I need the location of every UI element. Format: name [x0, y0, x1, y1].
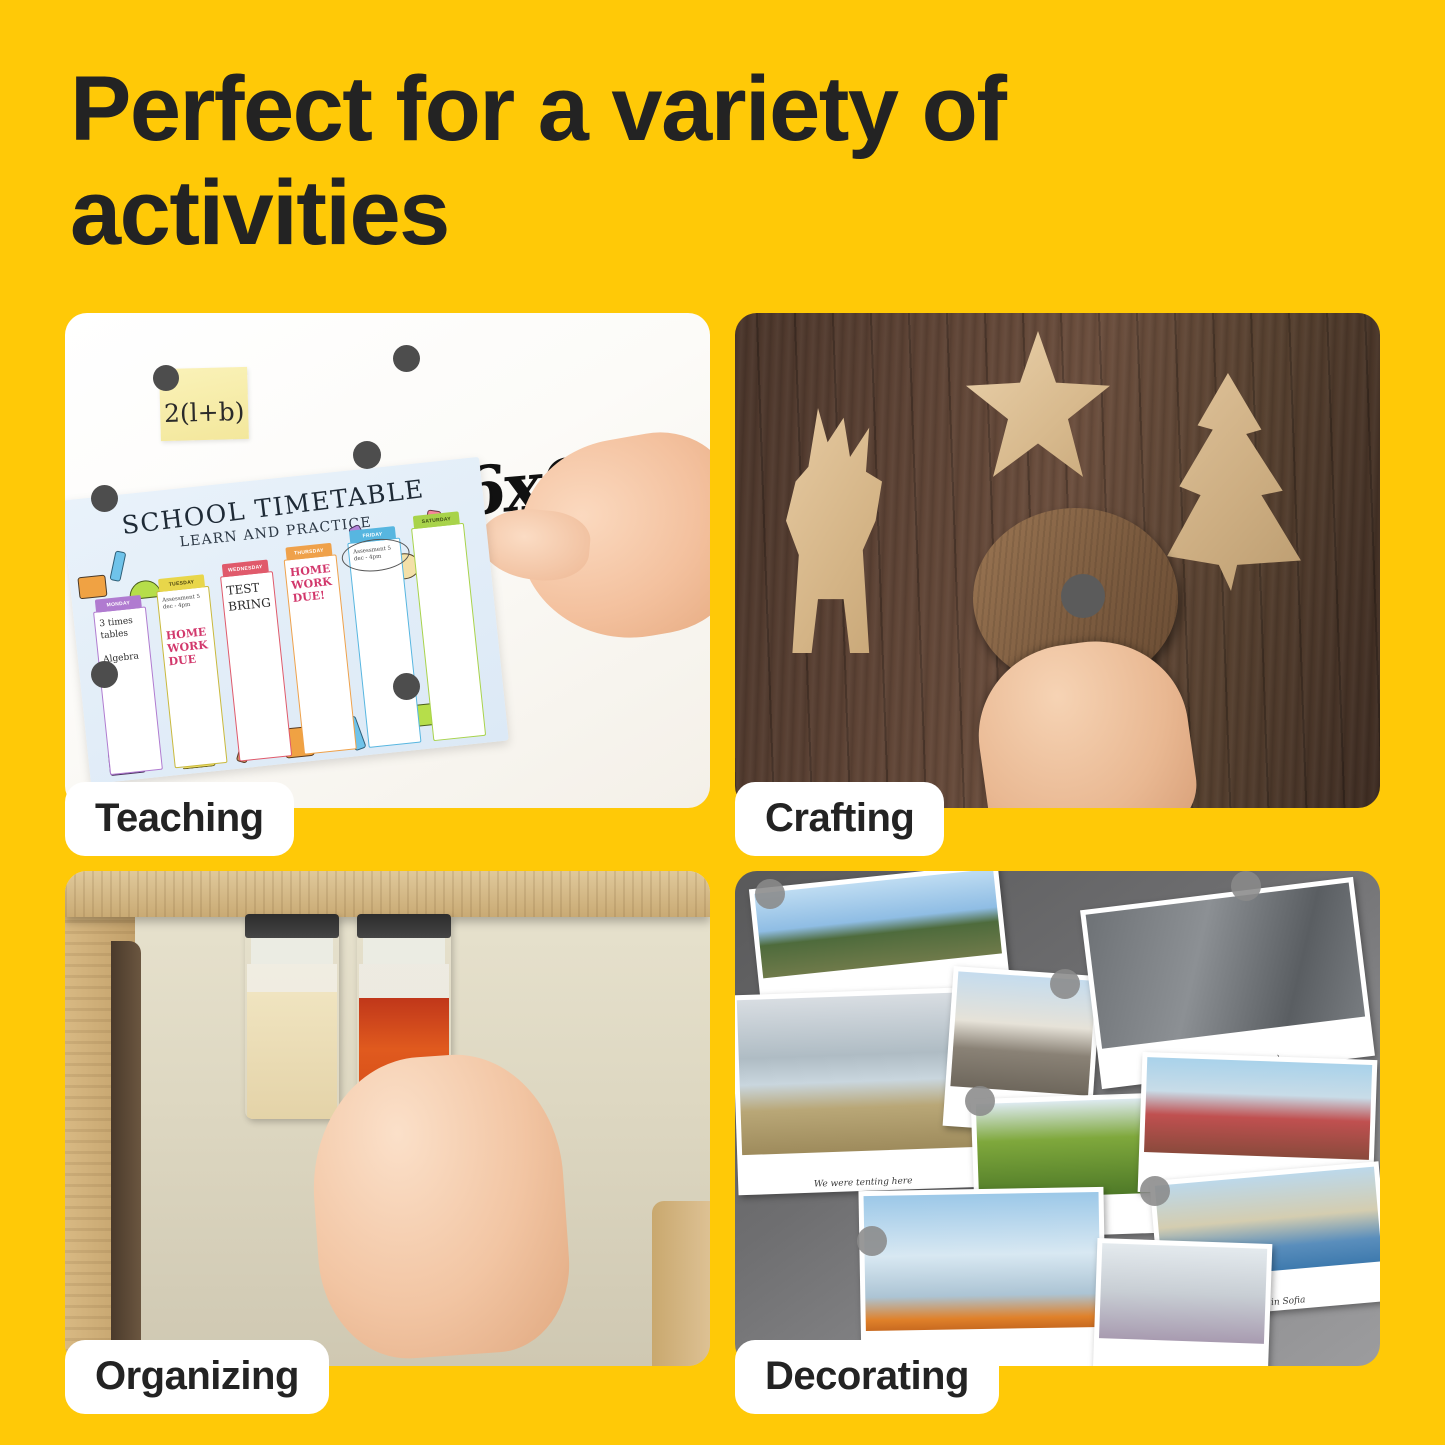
- timetable-column: THURSDAY HOME WORK DUE!: [284, 554, 357, 754]
- magnet-dot: [857, 1226, 887, 1256]
- panel-label-organizing: Organizing: [65, 1340, 329, 1414]
- panel-crafting-image: [735, 313, 1380, 808]
- timetable-day-tab: TUESDAY: [158, 574, 205, 592]
- cabinet-shadow-gap: [111, 941, 141, 1366]
- timetable-column: WEDNESDAY TEST BRING: [220, 571, 292, 762]
- timetable-note: HOME WORK DUE: [165, 625, 213, 669]
- photo-image-bungee-jump: [1086, 882, 1365, 1048]
- photo-image-mountain-biking: [754, 871, 1002, 978]
- timetable-day-tab: THURSDAY: [285, 543, 332, 561]
- panel-organizing-image: [65, 871, 710, 1366]
- panel-decorating-image: We were tenting here Oh India! 1st bunge…: [735, 871, 1380, 1366]
- magnet-dot: [1231, 871, 1261, 901]
- timetable-column: MONDAY 3 times tables Algebra: [93, 606, 163, 775]
- panel-decorating[interactable]: We were tenting here Oh India! 1st bunge…: [735, 871, 1380, 1366]
- timetable-note: HOME WORK DUE!: [289, 562, 337, 606]
- magnet-dot: [91, 661, 118, 688]
- panel-organizing[interactable]: Organizing: [65, 871, 710, 1366]
- timetable-column: SATURDAY: [411, 523, 486, 741]
- timetable-note: Assessment 5 dec - 4pm: [162, 593, 207, 612]
- magnet-dot: [1050, 969, 1080, 999]
- jar-lid: [245, 914, 339, 938]
- timetable-column: FRIDAY Assessment 5 dec - 4pm: [347, 538, 421, 748]
- cabinet-right-edge: [652, 1201, 710, 1366]
- activity-panel-grid: 2(l+b) 6x6 SCHOOL TIMETABLE LEARN AND PR…: [65, 313, 1380, 1338]
- school-timetable-poster: SCHOOL TIMETABLE LEARN AND PRACTICE: [65, 457, 509, 784]
- jar-neck: [363, 938, 445, 964]
- magnet-dot: [755, 879, 785, 909]
- timetable-note: TEST BRING: [226, 578, 273, 615]
- magnet-dot: [1061, 574, 1105, 618]
- panel-teaching-image: 2(l+b) 6x6 SCHOOL TIMETABLE LEARN AND PR…: [65, 313, 710, 808]
- magnet-dot: [393, 673, 420, 700]
- panel-label-decorating: Decorating: [735, 1340, 999, 1414]
- magnet-dot: [1140, 1176, 1170, 1206]
- photo-card: [1093, 1238, 1273, 1366]
- panel-label-teaching: Teaching: [65, 782, 294, 856]
- timetable-column: TUESDAY Assessment 5 dec - 4pm HOME WORK…: [156, 586, 227, 769]
- magnet-dot: [965, 1086, 995, 1116]
- panel-crafting[interactable]: Crafting: [735, 313, 1380, 808]
- timetable-columns: MONDAY 3 times tables Algebra TUESDAY As…: [87, 529, 499, 777]
- cabinet-underside-shelf: [65, 871, 710, 917]
- photo-image-snow-mountain: [864, 1192, 1101, 1331]
- photo-image-couple-selfie: [1144, 1057, 1372, 1160]
- spice-jar-white: [245, 914, 339, 1119]
- photo-image-woman-in-hat: [1099, 1243, 1267, 1344]
- magnet-dot: [393, 345, 420, 372]
- timetable-day-tab: MONDAY: [95, 595, 142, 613]
- photo-image-palm-trees: [976, 1098, 1154, 1199]
- jar-contents: [247, 964, 337, 1119]
- timetable-day-tab: WEDNESDAY: [222, 559, 269, 577]
- page-title: Perfect for a variety of activities: [70, 58, 1320, 266]
- timetable-note: 3 times tables: [99, 614, 145, 643]
- magnet-dot: [91, 485, 118, 512]
- magnet-dot: [153, 365, 179, 391]
- panel-teaching[interactable]: 2(l+b) 6x6 SCHOOL TIMETABLE LEARN AND PR…: [65, 313, 710, 808]
- panel-label-crafting: Crafting: [735, 782, 944, 856]
- jar-lid: [357, 914, 451, 938]
- magnet-dot: [353, 441, 381, 469]
- jar-neck: [251, 938, 333, 964]
